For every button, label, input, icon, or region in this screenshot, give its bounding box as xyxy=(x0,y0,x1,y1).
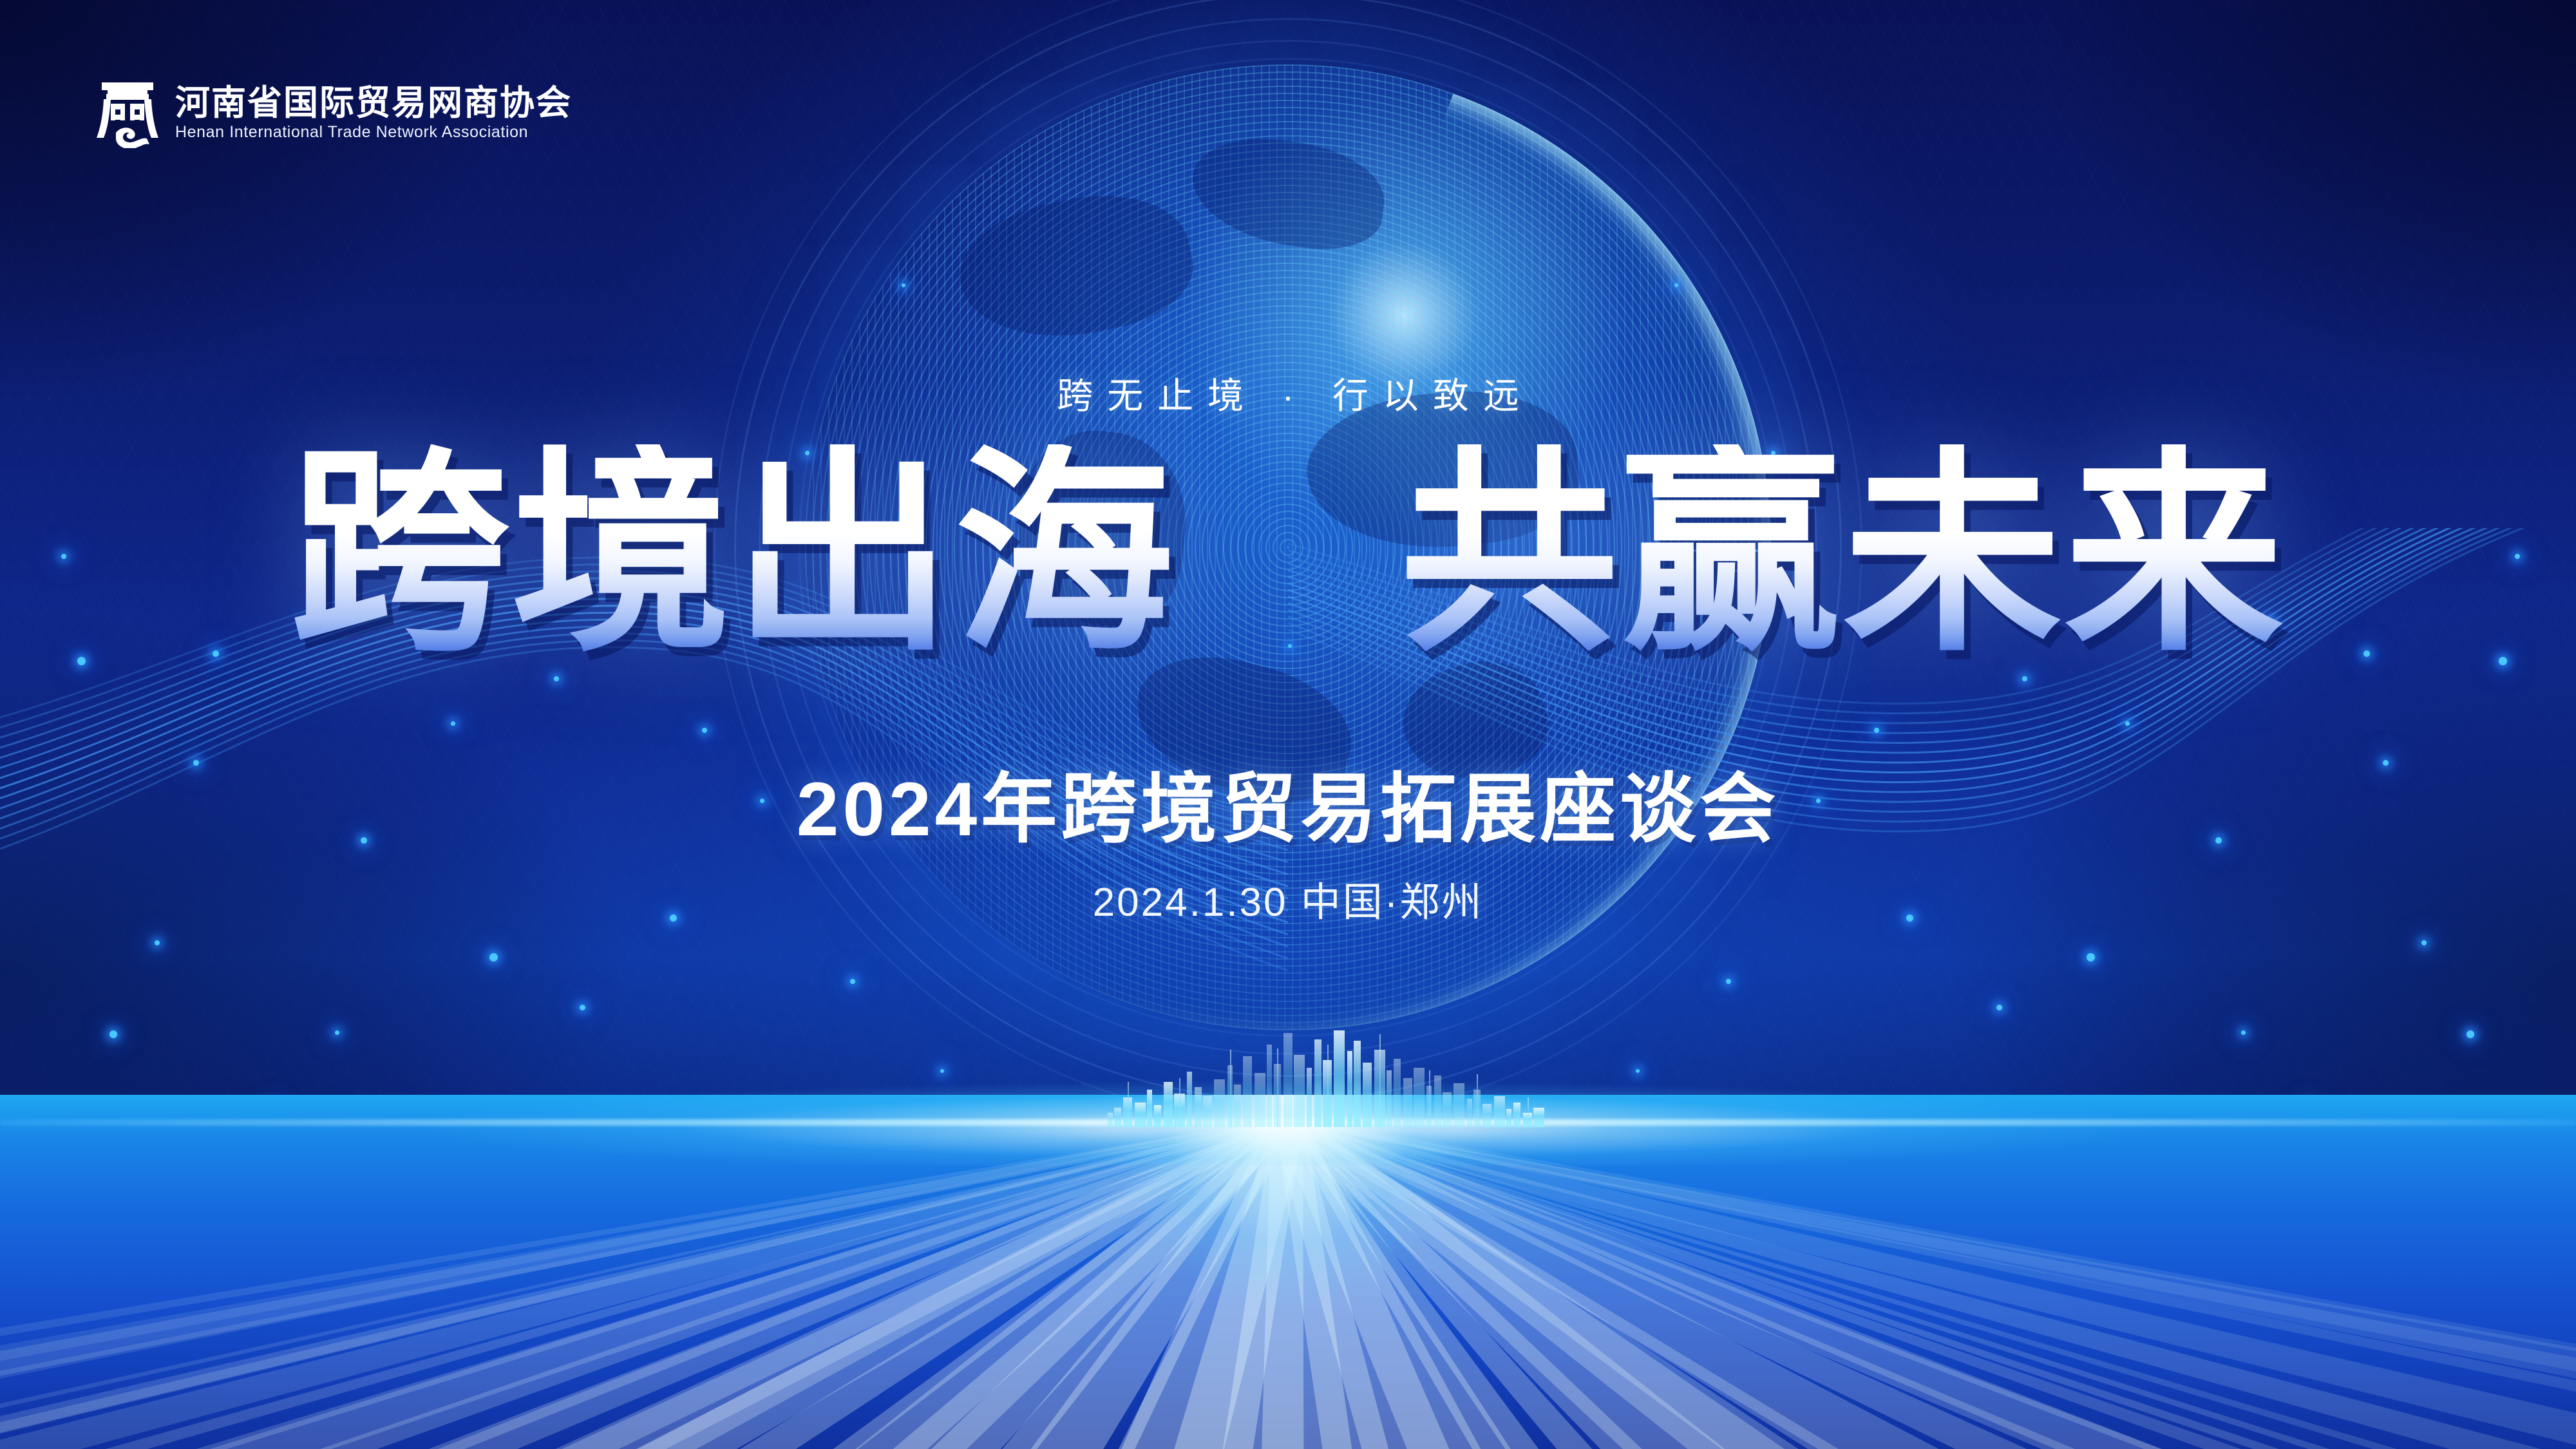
city-building xyxy=(1414,1068,1425,1127)
city-building xyxy=(1454,1083,1464,1127)
city-antenna xyxy=(1179,1078,1180,1127)
particle-dot xyxy=(902,283,905,287)
city-antenna xyxy=(1277,1048,1278,1127)
city-skyline xyxy=(1108,1021,1468,1127)
city-building xyxy=(1387,1070,1392,1127)
event-subtitle: 2024年跨境贸易拓展座谈会 xyxy=(0,747,2576,857)
city-building xyxy=(1187,1072,1192,1127)
city-building xyxy=(1307,1068,1312,1127)
city-building xyxy=(1443,1092,1452,1127)
logo-name-en: Henan International Trade Network Associ… xyxy=(175,124,572,140)
particle-dot xyxy=(554,676,559,681)
particle-dot xyxy=(489,953,498,961)
particle-dot xyxy=(155,940,160,945)
city-building xyxy=(1506,1109,1511,1127)
particle-dot xyxy=(1874,728,1879,733)
city-antenna xyxy=(1379,1034,1381,1127)
city-antenna xyxy=(1230,1050,1231,1127)
city-antenna xyxy=(1528,1097,1529,1127)
city-building xyxy=(1267,1045,1272,1127)
association-logo[interactable]: 河南省国际贸易网商协会 Henan International Trade Ne… xyxy=(97,77,572,148)
particle-dot xyxy=(2087,953,2095,961)
city-building xyxy=(1195,1087,1202,1127)
ground-plane xyxy=(0,1095,2576,1449)
city-building xyxy=(1513,1103,1520,1127)
city-building xyxy=(1114,1108,1121,1127)
logo-name-cn: 河南省国际贸易网商协会 xyxy=(175,86,572,120)
city-building xyxy=(1467,1099,1472,1127)
city-building xyxy=(1283,1033,1293,1127)
city-building xyxy=(1354,1041,1361,1127)
city-building xyxy=(1164,1082,1173,1127)
city-building xyxy=(1154,1105,1161,1127)
city-antenna xyxy=(1128,1082,1129,1127)
tagline: 跨无止境 · 行以致远 xyxy=(0,367,2576,419)
particle-dot xyxy=(1996,1005,2002,1010)
city-building xyxy=(1203,1096,1212,1127)
city-building xyxy=(1403,1078,1412,1127)
city-building xyxy=(1347,1051,1352,1127)
particle-dot xyxy=(940,1069,944,1073)
particle-dot xyxy=(1726,979,1731,984)
particle-dot xyxy=(2421,940,2427,945)
city-building xyxy=(1533,1108,1544,1127)
particle-dot xyxy=(1674,283,1678,287)
particle-dot xyxy=(580,1005,585,1010)
event-dateline: 2024.1.30 中国·郑州 xyxy=(0,869,2576,927)
city-building xyxy=(1243,1056,1252,1127)
particle-dot xyxy=(702,728,707,733)
city-building xyxy=(1214,1079,1225,1127)
logo-text-block: 河南省国际贸易网商协会 Henan International Trade Ne… xyxy=(175,86,572,140)
particle-dot xyxy=(109,1030,117,1038)
particle-dot xyxy=(2467,1030,2474,1038)
particle-dot xyxy=(2241,1030,2246,1035)
henan-trade-seal-glyph-icon xyxy=(97,77,158,148)
city-building xyxy=(1108,1113,1113,1127)
city-building xyxy=(1314,1039,1321,1127)
city-antenna xyxy=(1429,1070,1430,1127)
poster-canvas: 河南省国际贸易网商协会 Henan International Trade Ne… xyxy=(0,0,2576,1449)
city-building xyxy=(1135,1103,1146,1127)
city-antenna xyxy=(1477,1074,1478,1127)
particle-dot xyxy=(2125,721,2130,726)
city-building xyxy=(1394,1059,1401,1127)
city-building xyxy=(1255,1073,1265,1127)
city-building xyxy=(1294,1055,1305,1127)
city-building xyxy=(1363,1063,1372,1127)
particle-dot xyxy=(335,1030,339,1035)
particle-dot xyxy=(1636,1069,1640,1073)
headline: 跨境出海 共赢未来 xyxy=(0,444,2576,663)
headline-part-1: 跨境出海 xyxy=(290,444,1177,663)
city-antenna xyxy=(1327,1045,1329,1127)
city-building xyxy=(1482,1104,1492,1127)
particle-dot xyxy=(850,979,855,984)
city-building xyxy=(1147,1090,1152,1127)
city-building xyxy=(1234,1084,1241,1127)
particle-dot xyxy=(2022,676,2027,681)
headline-part-2: 共赢未来 xyxy=(1399,444,2286,663)
city-building xyxy=(1494,1096,1505,1127)
particle-dot xyxy=(451,721,455,726)
city-building xyxy=(1334,1030,1345,1127)
city-building xyxy=(1434,1075,1441,1127)
